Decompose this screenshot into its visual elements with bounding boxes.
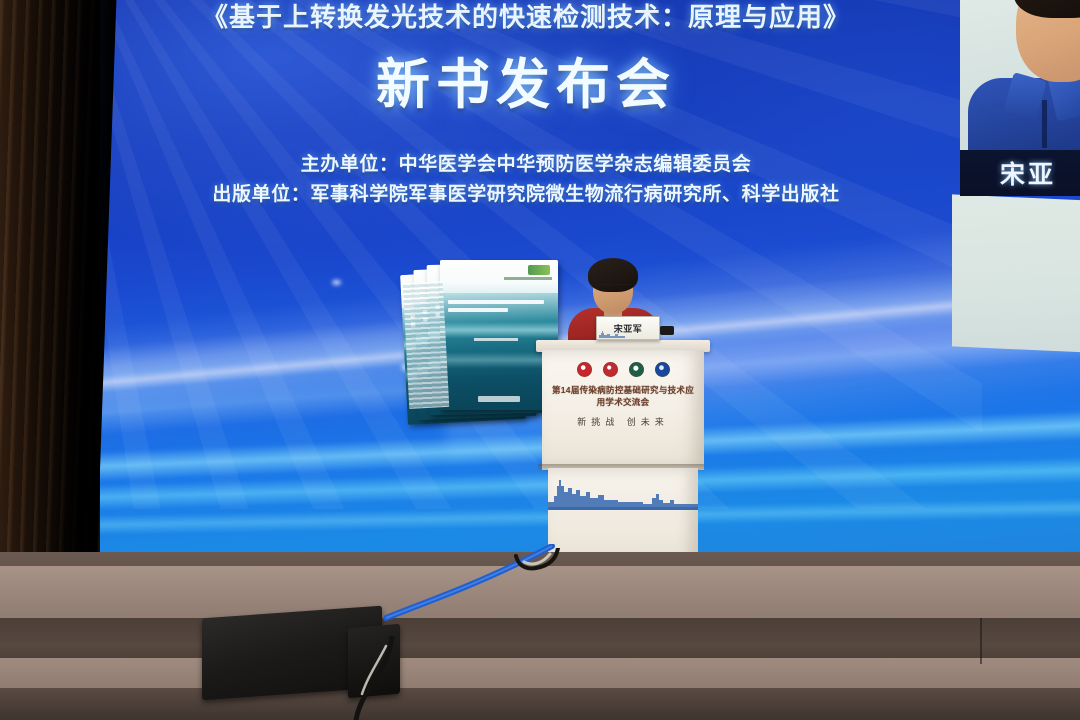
slide-text-block: 《基于上转换发光技术的快速检测技术：原理与应用》 新书发布会 主办单位：中华医学…: [96, 0, 956, 210]
black-stage-cable: [498, 548, 588, 608]
stage-riser-seam: [980, 618, 982, 664]
screen-light-panel: [952, 194, 1080, 353]
microphone-base: [660, 326, 674, 335]
book-series-line: [504, 277, 552, 280]
slide-credits: 主办单位：中华医学会中华预防医学杂志编辑委员会 出版单位：军事科学院军事医学研究…: [96, 150, 956, 210]
slide-book-title: 《基于上转换发光技术的快速检测技术：原理与应用》: [96, 2, 956, 32]
speaker-portrait-panel: 宋亚: [960, 0, 1080, 196]
conference-stage-photo: 《基于上转换发光技术的快速检测技术：原理与应用》 新书发布会 主办单位：中华医学…: [0, 0, 1080, 720]
speaker-glasses-icon: [595, 284, 631, 291]
book-publisher-mark: [478, 396, 520, 402]
slide-event-title: 新书发布会: [96, 54, 956, 116]
stage-front-edge: [0, 688, 1080, 720]
podium-slogan: 新挑战 创未来: [548, 416, 698, 428]
stage-step: [0, 658, 1080, 692]
portrait-name-text: 宋亚: [1000, 155, 1056, 191]
book-emblem-icon: [528, 265, 550, 275]
portrait-name-plate: 宋亚: [960, 150, 1080, 196]
logo-academy-icon: [629, 362, 644, 377]
black-stage-cable-coil: [338, 636, 428, 720]
desk-nameplate: 宋亚军: [596, 316, 660, 340]
nameplate-skyline-icon: [599, 331, 625, 338]
logo-institute-icon: [655, 362, 670, 377]
book-cover-wave: [440, 322, 558, 338]
book-cover-title: [448, 300, 544, 316]
podium-logo-row: [542, 362, 704, 377]
book-cover-top: [440, 260, 558, 293]
podium-conference-heading: 第14届传染病防控基础研究与技术应用学术交流会: [548, 384, 698, 408]
logo-cpma-icon: [603, 362, 618, 377]
book-cover-author: [474, 338, 518, 341]
speaker-portrait-photo: [960, 0, 1080, 150]
podium-front-panel: 第14届传染病防控基础研究与技术应用学术交流会 新挑战 创未来: [542, 350, 704, 470]
portrait-placket: [1042, 100, 1047, 148]
logo-cma-icon: [577, 362, 592, 377]
screen-glow-dot: [332, 280, 341, 285]
slide-organizer-line: 主办单位：中华医学会中华预防医学杂志编辑委员会: [96, 150, 956, 180]
speaking-podium: 第14届传染病防控基础研究与技术应用学术交流会 新挑战 创未来: [540, 340, 706, 578]
book-page-edges: [403, 281, 450, 409]
podium-skyline-icon: [548, 476, 698, 510]
slide-publisher-line: 出版单位：军事科学院军事医学研究院微生物流行病研究所、科学出版社: [96, 180, 956, 210]
